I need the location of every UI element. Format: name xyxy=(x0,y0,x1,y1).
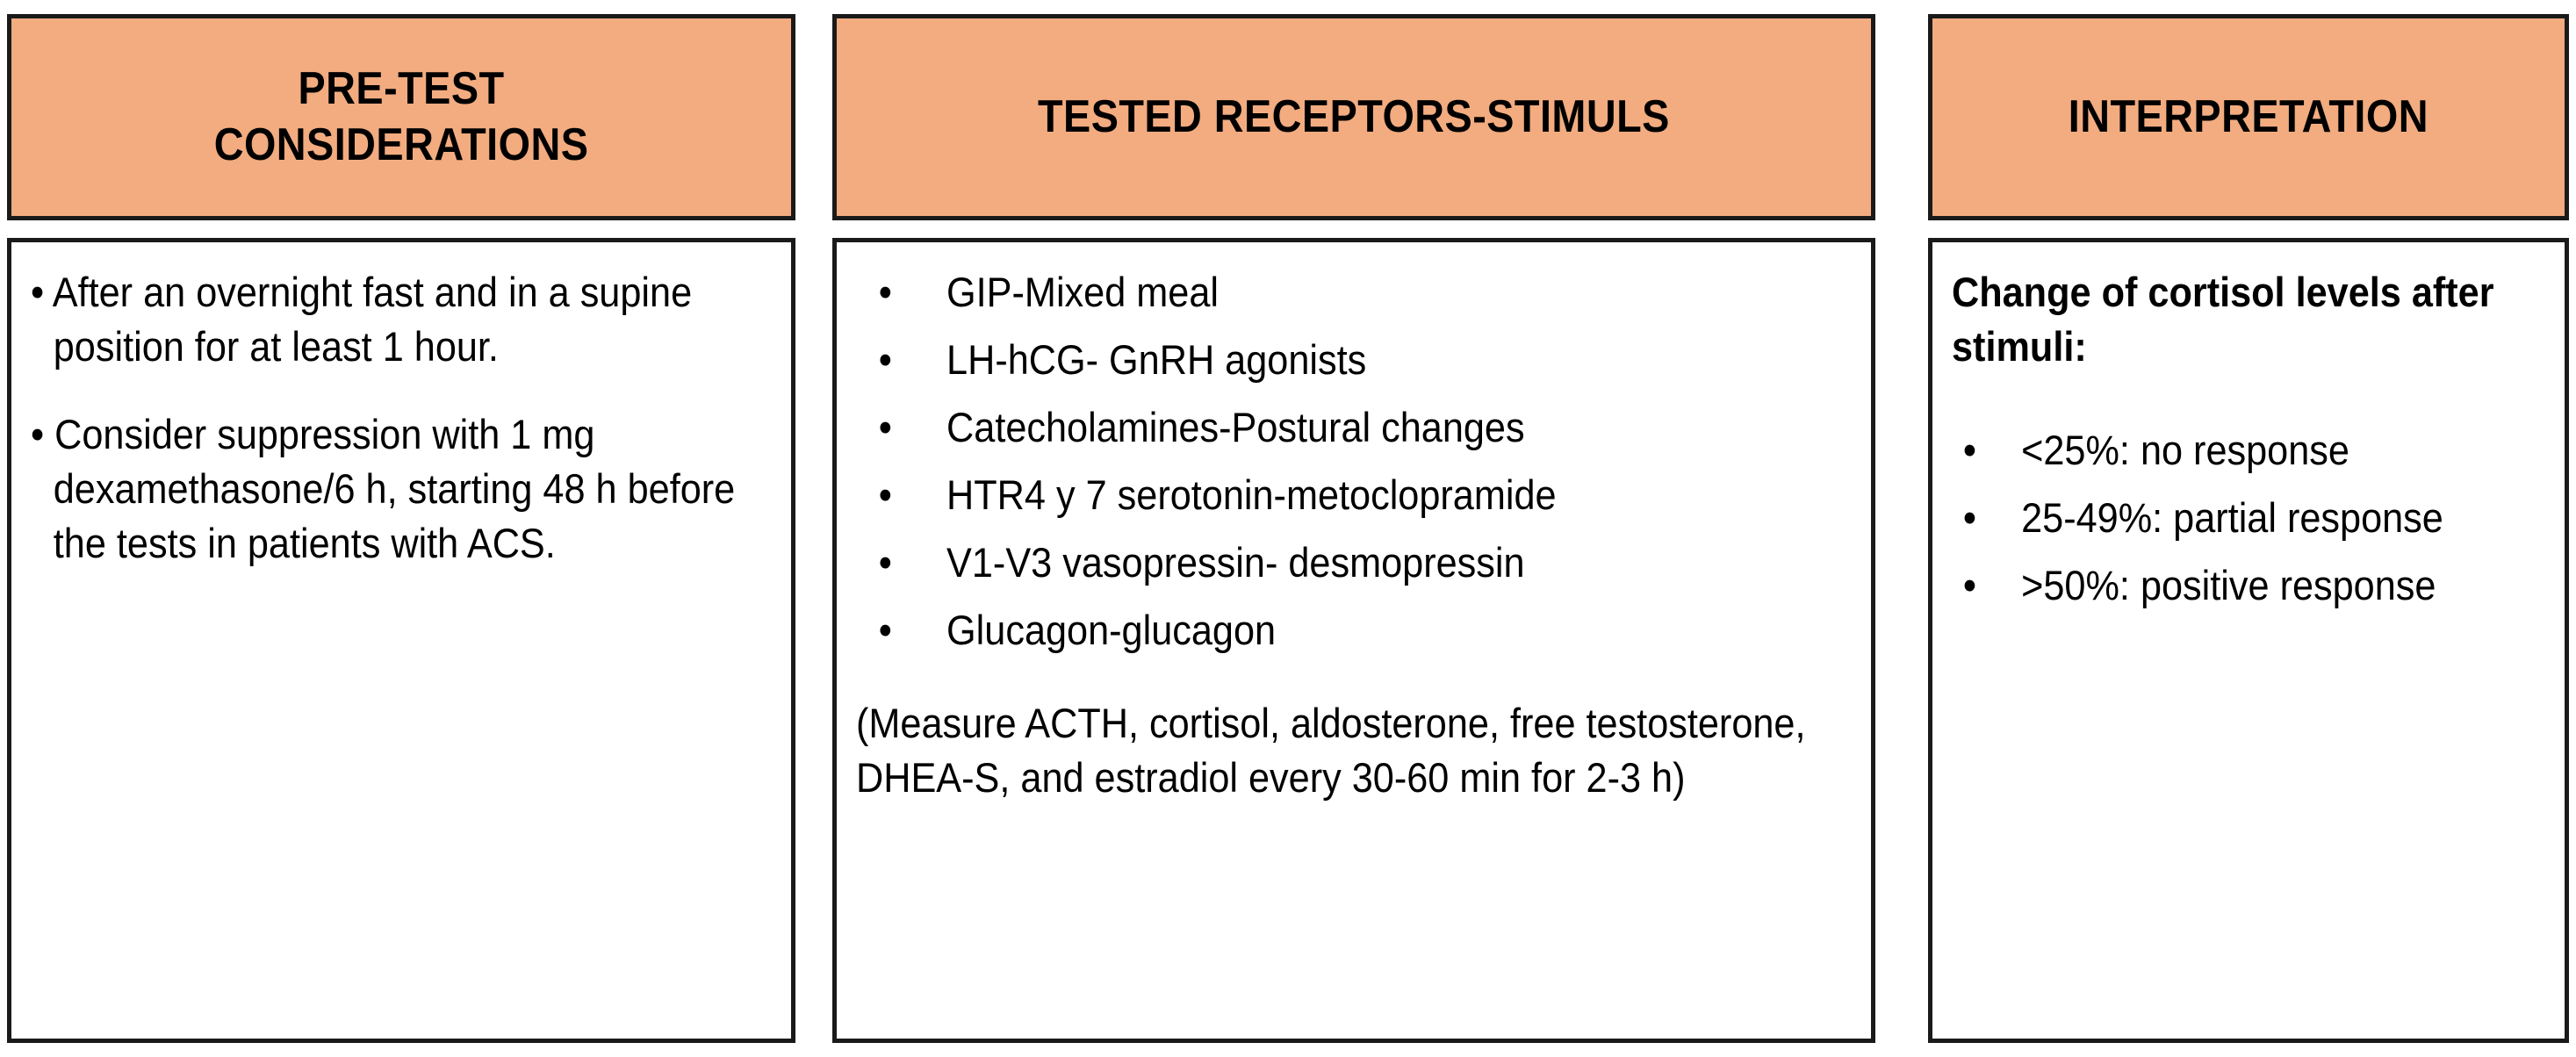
column-header-label: INTERPRETATION xyxy=(2069,90,2428,145)
list-item: • V1-V3 vasopressin- desmopressin xyxy=(856,536,1852,589)
list-item: • HTR4 y 7 serotonin-metoclopramide xyxy=(856,468,1852,521)
column-header-interpretation: INTERPRETATION xyxy=(1928,14,2569,220)
list-item-label: GIP-Mixed meal xyxy=(946,269,1219,315)
bullet-dot-icon: • xyxy=(879,468,892,521)
list-item: • >50%: positive response xyxy=(1952,558,2545,614)
three-column-figure: PRE-TEST CONSIDERATIONS • After an overn… xyxy=(0,0,2576,1057)
bullet-dot-icon: • xyxy=(879,536,892,589)
bullet-dot-icon: • xyxy=(1963,558,1976,612)
list-item: • Glucagon-glucagon xyxy=(856,603,1852,657)
consideration-item: • Consider suppression with 1 mg dexamet… xyxy=(31,407,795,571)
column-pre-test-considerations: PRE-TEST CONSIDERATIONS • After an overn… xyxy=(7,0,795,1057)
interpretation-heading: Change of cortisol levels after stimuli: xyxy=(1952,265,2545,374)
list-item-label: 25-49%: partial response xyxy=(2021,494,2443,541)
list-item-label: LH-hCG- GnRH agonists xyxy=(946,336,1366,383)
column-header-label: PRE-TEST CONSIDERATIONS xyxy=(214,61,589,173)
bullet-dot-icon: • xyxy=(1963,423,1976,477)
measurement-note: (Measure ACTH, cortisol, aldosterone, fr… xyxy=(856,696,1852,805)
bullet-dot-icon: • xyxy=(879,603,892,657)
column-body-interpretation: Change of cortisol levels after stimuli:… xyxy=(1928,238,2569,1043)
bullet-dot-icon: • xyxy=(879,333,892,386)
column-header-label: TESTED RECEPTORS-STIMULS xyxy=(1038,90,1670,145)
consideration-item: • After an overnight fast and in a supin… xyxy=(31,265,795,374)
column-header-tested-receptors-stimuls: TESTED RECEPTORS-STIMULS xyxy=(832,14,1875,220)
list-item: • 25-49%: partial response xyxy=(1952,491,2545,546)
list-item: • <25%: no response xyxy=(1952,423,2545,478)
list-item-label: <25%: no response xyxy=(2021,427,2349,473)
bullet-dot-icon: • xyxy=(879,265,892,319)
receptor-stimulus-list: • GIP-Mixed meal • LH-hCG- GnRH agonists… xyxy=(856,265,1852,658)
list-item-label: >50%: positive response xyxy=(2021,562,2436,608)
column-tested-receptors-stimuls: TESTED RECEPTORS-STIMULS • GIP-Mixed mea… xyxy=(832,0,1875,1057)
list-item-label: HTR4 y 7 serotonin-metoclopramide xyxy=(946,471,1557,518)
column-interpretation: INTERPRETATION Change of cortisol levels… xyxy=(1928,0,2569,1057)
list-item-label: V1-V3 vasopressin- desmopressin xyxy=(946,539,1525,586)
list-item-label: Catecholamines-Postural changes xyxy=(946,404,1525,450)
column-body-pre-test-considerations: • After an overnight fast and in a supin… xyxy=(7,238,795,1043)
heading-list-spacer xyxy=(1952,397,2545,423)
list-item: • LH-hCG- GnRH agonists xyxy=(856,333,1852,386)
list-item-label: Glucagon-glucagon xyxy=(946,607,1276,653)
bullet-dot-icon: • xyxy=(879,400,892,454)
list-item: • Catecholamines-Postural changes xyxy=(856,400,1852,454)
bullet-dot-icon: • xyxy=(1963,491,1976,544)
column-body-tested-receptors-stimuls: • GIP-Mixed meal • LH-hCG- GnRH agonists… xyxy=(832,238,1875,1043)
column-header-pre-test-considerations: PRE-TEST CONSIDERATIONS xyxy=(7,14,795,220)
list-item: • GIP-Mixed meal xyxy=(856,265,1852,319)
list-note-spacer xyxy=(856,658,1852,696)
response-threshold-list: • <25%: no response • 25-49%: partial re… xyxy=(1952,423,2545,614)
